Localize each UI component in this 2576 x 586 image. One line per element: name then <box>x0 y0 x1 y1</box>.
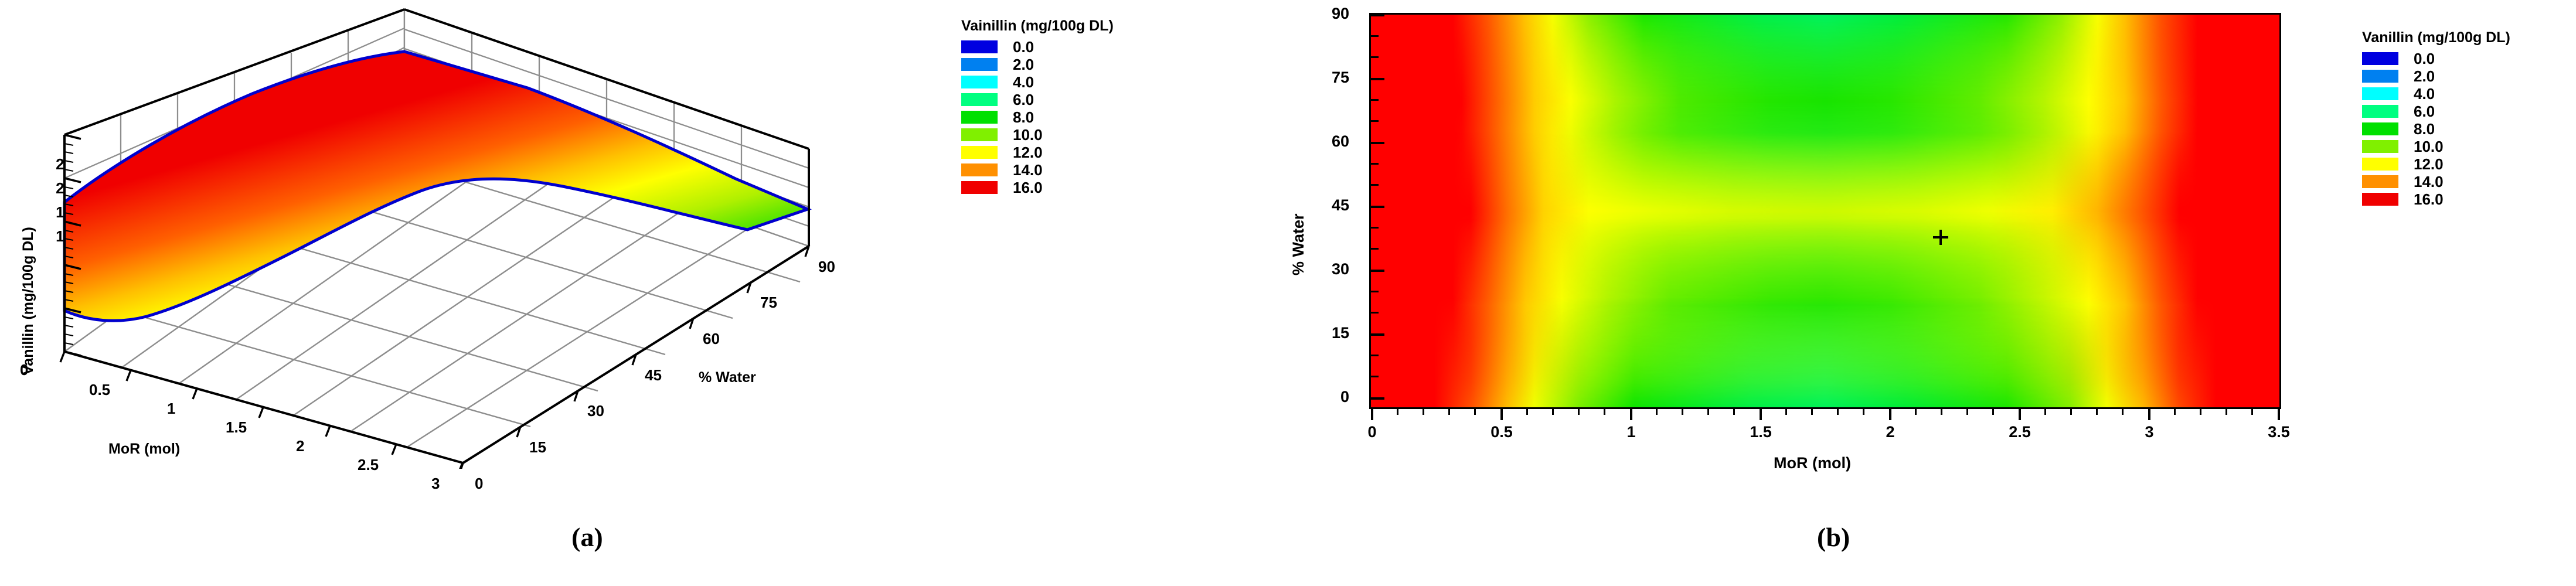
panel-b-x-minor-tickmark <box>2174 407 2176 415</box>
panel-a-y-tick: 60 <box>703 330 720 348</box>
panel-b-y-tickmark <box>1369 14 1384 16</box>
legend-color-swatch <box>2362 140 2398 153</box>
legend-item: 4.0 <box>961 73 1114 91</box>
panel-a-x-tick: 1.5 <box>226 418 247 437</box>
figure-root: Vanillin (mg/100g DL) 25 20 15 10 5 0 <box>0 0 2576 586</box>
panel-b-x-tick: 3 <box>2126 423 2173 441</box>
panel-b-x-tickmark <box>1500 407 1503 420</box>
panel-b-x-minor-tickmark <box>1474 407 1476 415</box>
panel-b-x-minor-tickmark <box>1915 407 1917 415</box>
panel-b-x-minor-tickmark <box>2200 407 2201 415</box>
panel-b-y-minor-tickmark <box>1369 163 1379 165</box>
legend-color-swatch <box>961 146 998 159</box>
panel-b-contour-plot <box>1369 13 2281 409</box>
panel-b-x-axis-label: MoR (mol) <box>1774 454 1851 472</box>
panel-b-contour-surface <box>1371 15 2279 407</box>
panel-b-x-tickmark <box>2148 407 2150 420</box>
panel-b-x-minor-tickmark <box>2225 407 2227 415</box>
panel-b-x-minor-tickmark <box>1941 407 1942 415</box>
panel-b-x-minor-tickmark <box>1552 407 1554 415</box>
panel-b-y-tick: 30 <box>1308 260 1349 278</box>
panel-b-x-minor-tickmark <box>1526 407 1528 415</box>
panel-b-x-tick: 3.5 <box>2255 423 2302 441</box>
panel-a-x-tick: 0 <box>20 361 28 379</box>
legend-color-swatch <box>2362 175 2398 188</box>
panel-a-x-tick: 2.5 <box>358 456 379 474</box>
panel-b-y-tick: 15 <box>1308 324 1349 342</box>
panel-b-x-minor-tickmark <box>1682 407 1683 415</box>
panel-b-y-tickmark <box>1369 206 1384 208</box>
legend-color-swatch <box>2362 87 2398 100</box>
legend-color-swatch <box>2362 70 2398 83</box>
panel-b-y-minor-tickmark <box>1369 99 1379 101</box>
panel-b-x-tickmark <box>2278 407 2280 420</box>
panel-b-x-tickmark <box>1760 407 1762 420</box>
legend-value: 14.0 <box>1013 162 1043 178</box>
legend-color-swatch <box>961 40 998 53</box>
panel-a-legend: Vainillin (mg/100g DL) 0.0 2.0 4.0 6.0 8… <box>961 18 1114 196</box>
panel-b-x-minor-tickmark <box>1992 407 1994 415</box>
panel-b-x-tick: 0 <box>1349 423 1396 441</box>
panel-b-y-minor-tickmark <box>1369 184 1379 186</box>
panel-b-legend: Vanillin (mg/100g DL) 0.0 2.0 4.0 6.0 8.… <box>2362 29 2510 208</box>
panel-a-surface-plot <box>0 0 996 469</box>
panel-a-y-axis-label: % Water <box>699 369 756 386</box>
panel-a-x-tick: 2 <box>296 437 304 455</box>
panel-a-x-axis-label: MoR (mol) <box>108 441 180 458</box>
legend-item: 2.0 <box>2362 67 2510 85</box>
panel-b-x-minor-tickmark <box>2251 407 2253 415</box>
panel-a-legend-title: Vainillin (mg/100g DL) <box>961 18 1114 35</box>
legend-color-swatch <box>961 163 998 176</box>
legend-color-swatch <box>961 58 998 71</box>
legend-item: 4.0 <box>2362 85 2510 103</box>
legend-value: 0.0 <box>1013 39 1034 54</box>
panel-a-y-tick: 45 <box>645 366 662 384</box>
legend-item: 14.0 <box>961 161 1114 179</box>
panel-b-x-minor-tickmark <box>1397 407 1398 415</box>
legend-color-swatch <box>961 76 998 88</box>
panel-b-x-tick: 2 <box>1867 423 1914 441</box>
panel-b-x-minor-tickmark <box>2096 407 2098 415</box>
legend-value: 8.0 <box>1013 110 1034 125</box>
panel-a: Vanillin (mg/100g DL) 25 20 15 10 5 0 <box>0 0 1202 586</box>
panel-b-y-tick: 90 <box>1308 5 1349 23</box>
panel-a-y-tick: 90 <box>818 258 835 276</box>
panel-b-y-tick: 60 <box>1308 132 1349 151</box>
panel-b-x-minor-tickmark <box>1785 407 1787 415</box>
panel-b-x-minor-tickmark <box>1707 407 1709 415</box>
panel-b-y-minor-tickmark <box>1369 248 1379 250</box>
panel-b-y-minor-tickmark <box>1369 376 1379 377</box>
panel-b-x-tickmark <box>1630 407 1632 420</box>
panel-b-x-tick: 1.5 <box>1737 423 1784 441</box>
panel-b-x-minor-tickmark <box>1448 407 1450 415</box>
panel-b-x-minor-tickmark <box>1604 407 1605 415</box>
panel-b-y-axis-label: % Water <box>1289 213 1308 275</box>
panel-b-x-minor-tickmark <box>1837 407 1839 415</box>
panel-b-y-minor-tickmark <box>1369 120 1379 122</box>
legend-color-swatch <box>961 181 998 194</box>
legend-value: 10.0 <box>1013 127 1043 142</box>
legend-color-swatch <box>2362 105 2398 118</box>
legend-item: 12.0 <box>2362 155 2510 173</box>
panel-b-y-tick: 75 <box>1308 69 1349 87</box>
legend-item: 8.0 <box>961 108 1114 126</box>
legend-value: 2.0 <box>1013 57 1034 72</box>
legend-item: 14.0 <box>2362 173 2510 190</box>
panel-a-y-tick: 30 <box>587 402 604 420</box>
legend-item: 6.0 <box>2362 103 2510 120</box>
legend-value: 16.0 <box>2414 192 2444 207</box>
legend-value: 12.0 <box>1013 145 1043 160</box>
legend-value: 12.0 <box>2414 156 2444 172</box>
panel-a-y-tick: 15 <box>529 438 546 456</box>
panel-b-x-minor-tickmark <box>1733 407 1735 415</box>
legend-color-swatch <box>2362 158 2398 171</box>
panel-b-x-tick: 1 <box>1608 423 1655 441</box>
panel-b-y-minor-tickmark <box>1369 227 1379 229</box>
panel-b-y-minor-tickmark <box>1369 312 1379 314</box>
legend-item: 16.0 <box>2362 190 2510 208</box>
panel-b-x-tick: 2.5 <box>1996 423 2043 441</box>
panel-b-caption: (b) <box>1817 522 1850 553</box>
panel-b-y-tick: 45 <box>1308 196 1349 214</box>
legend-value: 2.0 <box>2414 69 2435 84</box>
legend-color-swatch <box>2362 193 2398 206</box>
legend-item: 2.0 <box>961 56 1114 73</box>
panel-b-x-minor-tickmark <box>2044 407 2046 415</box>
panel-b-y-tickmark <box>1369 270 1384 272</box>
legend-value: 4.0 <box>1013 74 1034 90</box>
legend-color-swatch <box>961 111 998 124</box>
panel-b-x-tickmark <box>1371 407 1373 420</box>
panel-b-x-minor-tickmark <box>1578 407 1580 415</box>
legend-value: 16.0 <box>1013 180 1043 195</box>
panel-b-y-tickmark <box>1369 397 1384 400</box>
panel-b-y-tickmark <box>1369 333 1384 336</box>
legend-value: 8.0 <box>2414 121 2435 137</box>
panel-b-x-minor-tickmark <box>1966 407 1968 415</box>
panel-b-y-tickmark <box>1369 78 1384 80</box>
panel-b-y-tickmark <box>1369 142 1384 144</box>
legend-item: 10.0 <box>961 126 1114 144</box>
legend-item: 0.0 <box>961 38 1114 56</box>
legend-value: 4.0 <box>2414 86 2435 101</box>
panel-a-y-tick: 75 <box>760 294 777 312</box>
panel-b-design-point-marker <box>1933 230 1948 245</box>
panel-b-y-tick: 0 <box>1308 388 1349 406</box>
panel-b-y-minor-tickmark <box>1369 355 1379 356</box>
legend-color-swatch <box>2362 122 2398 135</box>
panel-b-x-minor-tickmark <box>2070 407 2072 415</box>
panel-b-y-minor-tickmark <box>1369 291 1379 292</box>
panel-b-x-minor-tickmark <box>2122 407 2124 415</box>
panel-b-x-minor-tickmark <box>1656 407 1658 415</box>
legend-color-swatch <box>961 128 998 141</box>
panel-b-x-tick: 0.5 <box>1478 423 1525 441</box>
panel-b-x-tickmark <box>2019 407 2021 420</box>
panel-b-legend-title: Vanillin (mg/100g DL) <box>2362 29 2510 46</box>
legend-value: 14.0 <box>2414 174 2444 189</box>
legend-item: 6.0 <box>961 91 1114 108</box>
panel-b: % Water 90 75 60 45 30 15 0 <box>1202 0 2576 586</box>
legend-item: 16.0 <box>961 179 1114 196</box>
panel-b-x-tickmark <box>1889 407 1891 420</box>
panel-a-x-tick: 0.5 <box>89 381 110 399</box>
legend-value: 10.0 <box>2414 139 2444 154</box>
panel-b-x-minor-tickmark <box>1423 407 1424 415</box>
panel-b-x-minor-tickmark <box>1811 407 1813 415</box>
panel-b-y-minor-tickmark <box>1369 56 1379 58</box>
panel-b-y-minor-tickmark <box>1369 35 1379 37</box>
legend-item: 8.0 <box>2362 120 2510 138</box>
panel-a-x-tick: 3 <box>431 475 440 493</box>
legend-item: 12.0 <box>961 144 1114 161</box>
legend-value: 6.0 <box>1013 92 1034 107</box>
legend-item: 10.0 <box>2362 138 2510 155</box>
panel-a-y-tick: 0 <box>475 475 483 493</box>
legend-value: 6.0 <box>2414 104 2435 119</box>
panel-a-caption: (a) <box>571 522 603 553</box>
legend-item: 0.0 <box>2362 50 2510 67</box>
panel-b-x-minor-tickmark <box>1863 407 1864 415</box>
panel-a-x-tick: 1 <box>167 400 175 418</box>
legend-value: 0.0 <box>2414 51 2435 66</box>
legend-color-swatch <box>2362 52 2398 65</box>
legend-color-swatch <box>961 93 998 106</box>
